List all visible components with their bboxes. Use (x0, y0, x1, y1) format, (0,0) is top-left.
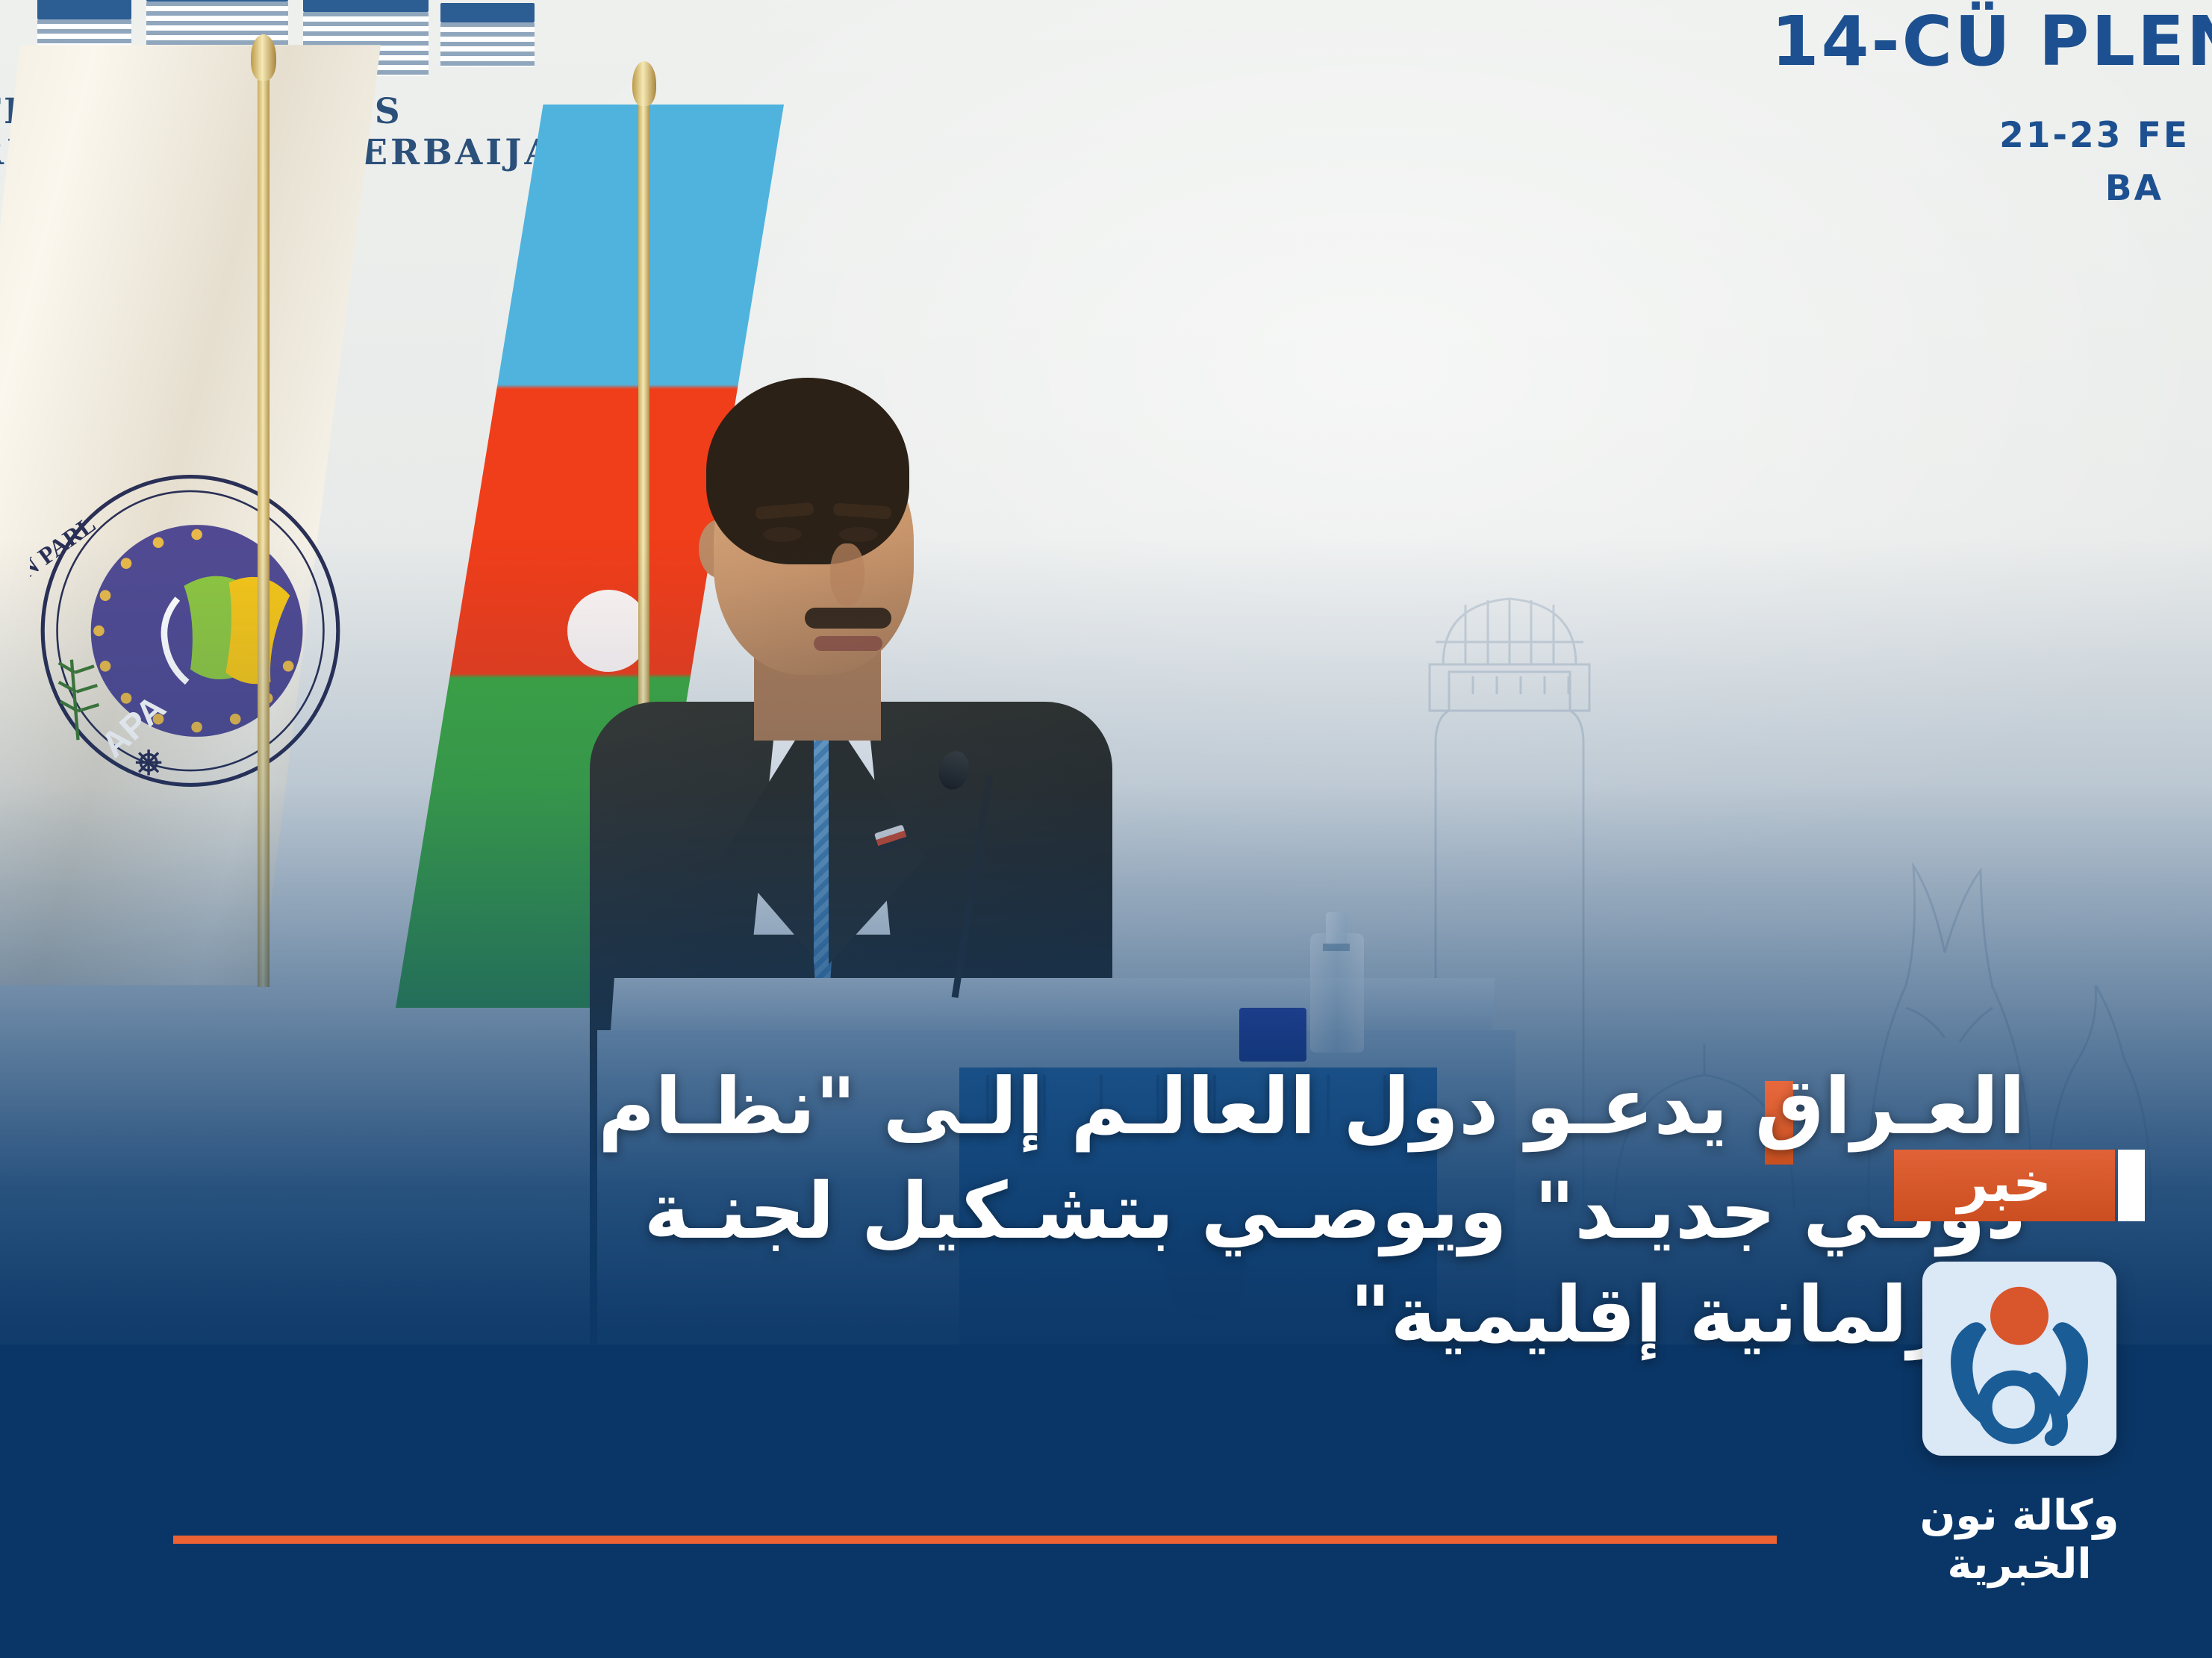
news-badge: خبر (1894, 1150, 2115, 1221)
agency-logo (1922, 1262, 2116, 1456)
news-badge-wrap: خبر (1894, 1150, 2145, 1221)
agency-logo-mark (1922, 1262, 2116, 1456)
event-dates: 21-23 FE (1771, 115, 2212, 156)
event-city: BA (1771, 168, 2212, 209)
brand-block: خبر وكالة نون الخبرية (1844, 1150, 2195, 1589)
event-title-block: 14-CÜ PLENA 21-23 FE BA (1771, 7, 2212, 209)
event-title: 14-CÜ PLENA (1771, 7, 2212, 76)
apa-flag-finial (251, 34, 276, 81)
headline-underline (173, 1536, 1777, 1544)
headline-line-1: العـراق يدعـو دول العالـم إلـى "نظـام (435, 1053, 2025, 1162)
logo-head-circle (1990, 1287, 2049, 1345)
headline-line-3: "برلمانية إقليمية" (435, 1261, 2025, 1370)
speaker-hair (706, 378, 909, 564)
news-badge-tick (2118, 1150, 2145, 1221)
agency-name: وكالة نون الخبرية (1844, 1492, 2195, 1589)
news-card: THE MILLI MAJLIS REPUBLIC OF AZERBAIJAN … (0, 0, 2212, 1658)
headline-line-2: دولـي جديـد" ويوصـي بتشـكيل لجنـة (435, 1157, 2025, 1266)
headline: العـراق يدعـو دول العالـم إلـى "نظـام دو… (435, 1053, 2025, 1370)
azerbaijan-flag-finial (632, 61, 656, 106)
